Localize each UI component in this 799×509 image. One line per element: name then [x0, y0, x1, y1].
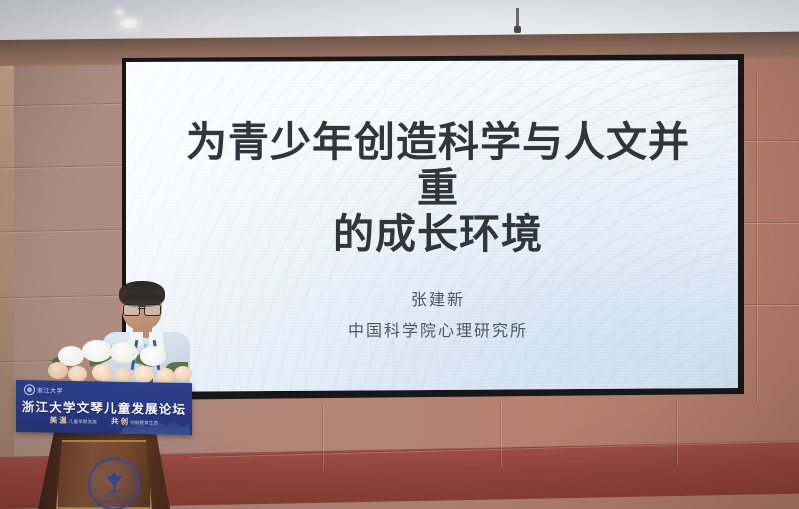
slide-title: 为青少年创造科学与人文并重 的成长环境 [178, 120, 698, 258]
banner-sub-right-small: 创新教育生态 [130, 420, 158, 426]
projection-screen[interactable]: 为青少年创造科学与人文并重 的成长环境 张建新 中国科学院心理研究所 [126, 60, 738, 392]
glasses-icon [122, 304, 162, 314]
slide-title-line1: 为青少年创造科学与人文并重 [186, 118, 690, 212]
banner-sub-left-big: 美 温 [50, 415, 67, 426]
banner-zju-logo: 浙江大学 [24, 384, 63, 395]
podium-banner: 浙江大学 浙江大学文琴儿童发展论坛 美 温 儿童早期发展 共 创 创新教育生态 [16, 380, 192, 435]
wall-vseam-1 [322, 404, 323, 470]
banner-subtitle-left: 美 温 儿童早期发展 [50, 415, 97, 427]
flower-rose [174, 366, 192, 381]
flower-rose [92, 364, 112, 381]
downlight-2 [115, 10, 124, 15]
ceiling-sprinkler [516, 8, 519, 28]
glasses-lens-left [123, 304, 140, 316]
zhejiang-university-emblem-icon: 1897 ZHEJIANG UNIVERSITY [88, 458, 140, 509]
wall-seam-r1 [744, 140, 799, 141]
glasses-lens-right [144, 304, 161, 316]
flower-rose [134, 366, 154, 383]
flower-lily [140, 346, 166, 366]
flower-rose [114, 368, 132, 383]
left-wall-wood-strip [0, 52, 14, 492]
wall-vseam-3 [676, 398, 677, 466]
zju-logo-mark-icon [24, 384, 35, 395]
flower-lily [110, 342, 138, 363]
emblem-university-text: ZHEJIANG UNIVERSITY [90, 494, 138, 504]
banner-subtitle-row: 美 温 儿童早期发展 共 创 创新教育生态 [16, 414, 192, 428]
banner-sub-left-small: 儿童早期发展 [69, 419, 97, 425]
banner-subtitle-right: 共 创 创新教育生态 [111, 416, 158, 428]
slide-speaker-org: 中国科学院心理研究所 [178, 317, 698, 346]
banner-sub-right-big: 共 创 [111, 416, 128, 427]
flower-rose [48, 362, 68, 379]
presentation-photo-scene: 为青少年创造科学与人文并重 的成长环境 张建新 中国科学院心理研究所 [0, 0, 799, 509]
slide-speaker-block: 张建新 中国科学院心理研究所 [178, 288, 698, 346]
emblem-bird-icon [105, 472, 123, 492]
banner-logo-wordmark: 浙江大学 [37, 385, 63, 394]
wall-seam-r3 [744, 304, 799, 305]
wall-vseam-4 [756, 72, 757, 402]
downlight-1 [118, 18, 140, 30]
wall-seam-r2 [744, 222, 799, 223]
slide-speaker-name: 张建新 [178, 288, 698, 312]
wall-vseam-2 [500, 402, 501, 468]
flower-rose [68, 366, 87, 382]
slide-title-line2: 的成长环境 [178, 212, 698, 258]
flower-lily [82, 340, 112, 362]
slide-content: 为青少年创造科学与人文并重 的成长环境 张建新 中国科学院心理研究所 [126, 60, 738, 392]
